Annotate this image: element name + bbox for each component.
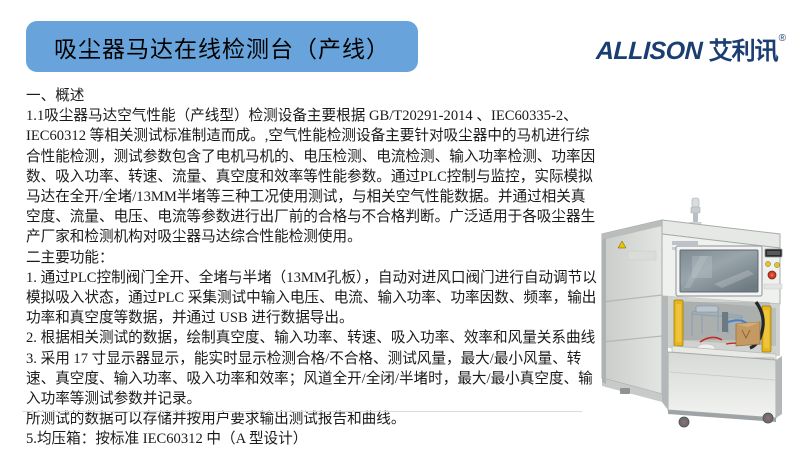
registered-trademark-icon: ® [779, 34, 786, 44]
machine-viewing-window [676, 246, 762, 296]
logo-wordmark: ALLISON [596, 36, 703, 66]
vacuum-motor-test-bench-photo [596, 196, 796, 432]
function-item-4: 所测试的数据可以存储并按用户要求输出测试报告和曲线。 [26, 409, 598, 429]
allison-logo: ALLISON 艾利讯 ® [596, 36, 786, 70]
machine-test-bay [668, 296, 780, 360]
page-title: 吸尘器马达在线检测台（产线） [54, 30, 390, 64]
overview-body: 一、概述 1.1吸尘器马达空气性能（产线型）检测设备主要根据 GB/T20291… [26, 86, 598, 450]
function-item-5: 5.均压箱：按标准 IEC60312 中（A 型设计） [26, 429, 598, 449]
section-heading-functions: 二主要功能： [26, 248, 598, 268]
function-item-1: 1. 通过PLC控制阀门全开、全堵与半堵（13MM孔板），自动对进风口阀门进行自… [26, 268, 598, 329]
function-item-2: 2. 根据相关测试的数据，绘制真空度、输入功率、转速、吸入功率、效率和风量关系曲… [26, 328, 598, 348]
slide-canvas: 吸尘器马达在线检测台（产线） ALLISON 艾利讯 ® 一、概述 1.1吸尘器… [0, 0, 800, 450]
section-heading-overview: 一、概述 [26, 86, 598, 106]
machine-left-cabinet [602, 220, 662, 394]
yellow-indicator-icon [765, 261, 770, 266]
logo-chinese-mark: 艾利讯 [709, 36, 778, 66]
paragraph-overview: 1.1吸尘器马达空气性能（产线型）检测设备主要根据 GB/T20291-2014… [26, 106, 598, 247]
function-item-3: 3. 采用 17 寸显示器显示，能实时显示检测合格/不合格、测试风量，最大/最小… [26, 349, 598, 410]
page-title-box: 吸尘器马达在线检测台（产线） [26, 21, 418, 72]
footer-divider [22, 411, 582, 412]
